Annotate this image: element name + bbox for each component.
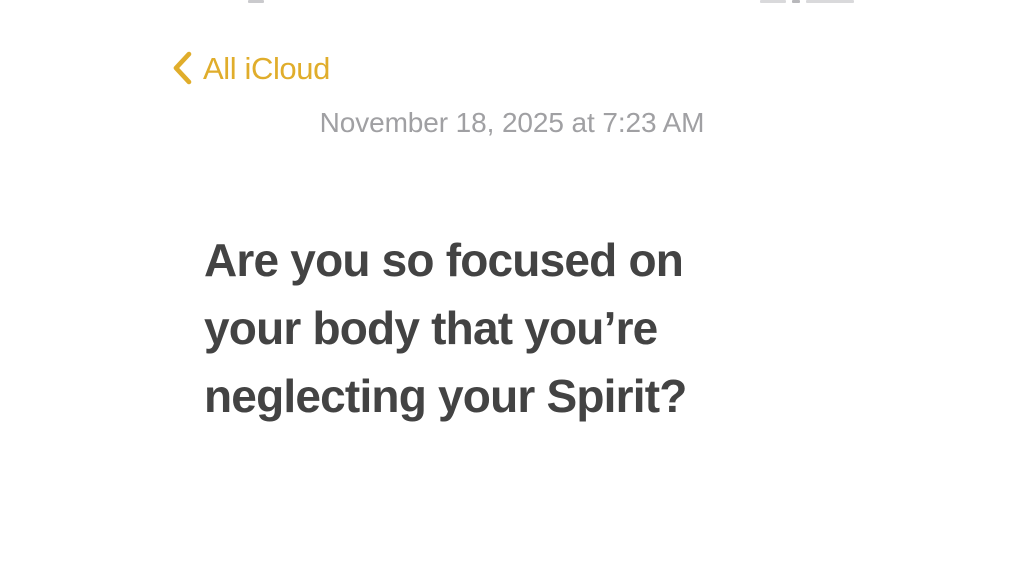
note-title-line-3: neglecting your Spirit?	[204, 362, 844, 430]
wifi-sliver	[792, 0, 800, 3]
battery-sliver	[806, 0, 854, 3]
notes-screen: All iCloud	[0, 0, 1024, 576]
back-button-all-icloud[interactable]: All iCloud	[172, 40, 330, 96]
chevron-left-icon	[172, 51, 192, 85]
back-button-label: All iCloud	[203, 53, 330, 84]
note-title-line-1: Are you so focused on	[204, 226, 844, 294]
note-timestamp: November 18, 2025 at 7:23 AM	[0, 106, 1024, 140]
signal-sliver	[760, 0, 786, 3]
status-bar-time-sliver	[248, 0, 264, 3]
note-body[interactable]: Are you so focused on your body that you…	[204, 226, 844, 430]
note-title-line-2: your body that you’re	[204, 294, 844, 362]
status-bar	[0, 0, 1024, 8]
status-bar-indicators-sliver	[760, 0, 856, 3]
navigation-bar: All iCloud	[0, 40, 1024, 96]
